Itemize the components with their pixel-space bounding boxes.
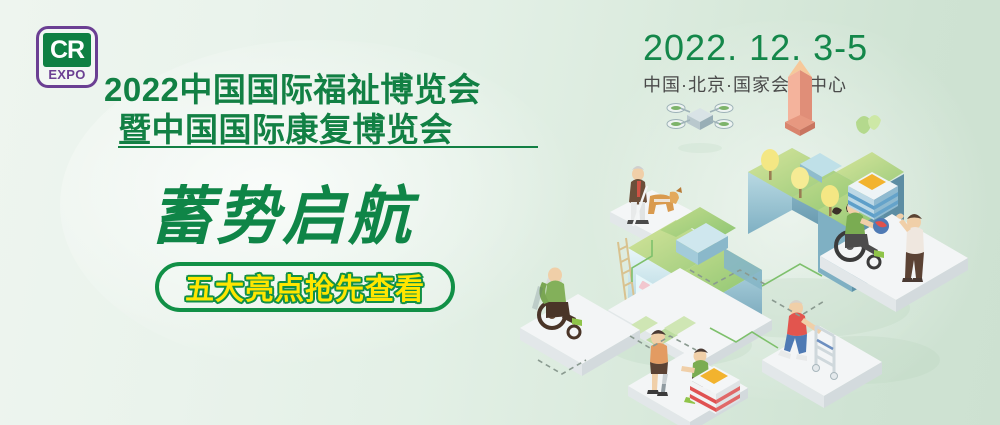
isometric-illustration	[500, 60, 1000, 425]
logo-mark-box: CR	[43, 33, 91, 67]
event-banner: CR EXPO 2022中国国际福祉博览会 暨中国国际康复博览会 蓄势启航 五大…	[0, 0, 1000, 425]
elderly-wheelchair-user-scene	[520, 268, 640, 377]
title-line-2: 暨中国国际康复博览会	[104, 110, 544, 150]
logo-mark-text: CR	[50, 38, 84, 63]
obelisk-tower	[785, 60, 815, 136]
drone-icon	[667, 104, 733, 154]
cta-button[interactable]: 五大亮点抢先查看	[155, 262, 455, 312]
cta-button-label: 五大亮点抢先查看	[185, 266, 425, 308]
title-block: 2022中国国际福祉博览会 暨中国国际康复博览会	[104, 70, 544, 150]
logo-sub-text: EXPO	[43, 67, 91, 83]
title-line-1: 2022中国国际福祉博览会	[104, 70, 544, 110]
slogan-text: 蓄势启航	[150, 182, 414, 252]
cr-expo-logo[interactable]: CR EXPO	[36, 26, 98, 88]
